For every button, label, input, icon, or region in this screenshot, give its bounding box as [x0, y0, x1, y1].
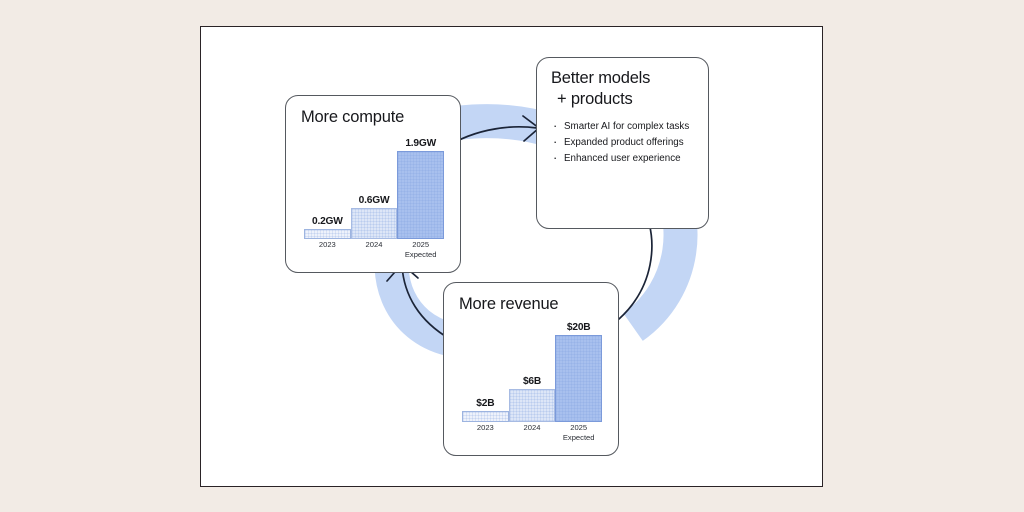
- bar-value-label: $20B: [567, 322, 591, 333]
- bar-column-2024: $6B: [509, 317, 556, 422]
- bar-value-label: 1.9GW: [405, 138, 436, 149]
- diagram-canvas: More compute 0.2GW 0.6GW 1.9GW: [0, 0, 1024, 512]
- bar-value-label: 0.2GW: [312, 216, 343, 227]
- list-item: Expanded product offerings: [551, 136, 701, 150]
- x-label-year: 2024: [366, 240, 383, 249]
- x-label-year: 2023: [477, 423, 494, 432]
- chart-more-revenue: $2B $6B $20B 2023: [456, 317, 608, 447]
- bar-column-2025: 1.9GW: [397, 134, 444, 239]
- x-label-2023: 2023: [304, 240, 351, 264]
- x-label-2024: 2024: [509, 423, 556, 447]
- x-label-sub: Expected: [555, 433, 602, 443]
- x-axis-labels-compute: 2023 2024 2025 Expected: [298, 240, 450, 264]
- x-label-sub: Expected: [397, 250, 444, 260]
- bar-2025: [555, 335, 602, 422]
- bar-2025: [397, 151, 444, 239]
- node-better-models-products[interactable]: Better models + products Smarter AI for …: [536, 57, 709, 229]
- bar-column-2025: $20B: [555, 317, 602, 422]
- x-label-2025: 2025 Expected: [397, 240, 444, 264]
- list-item: Smarter AI for complex tasks: [551, 120, 701, 134]
- title-line-2: + products: [551, 89, 650, 110]
- x-label-year: 2025: [570, 423, 587, 432]
- x-label-year: 2025: [412, 240, 429, 249]
- x-label-year: 2024: [524, 423, 541, 432]
- node-more-revenue[interactable]: More revenue $2B $6B $20B: [443, 282, 619, 456]
- node-title-more-compute: More compute: [301, 108, 404, 127]
- node-title-better-models: Better models + products: [551, 68, 650, 110]
- list-item: Enhanced user experience: [551, 152, 701, 166]
- x-label-2025: 2025 Expected: [555, 423, 602, 447]
- title-line-1: Better models: [551, 69, 650, 87]
- node-more-compute[interactable]: More compute 0.2GW 0.6GW 1.9GW: [285, 95, 461, 273]
- x-label-2023: 2023: [462, 423, 509, 447]
- bar-group-revenue: $2B $6B $20B: [456, 317, 608, 422]
- bar-2023: [462, 411, 509, 422]
- x-axis-labels-revenue: 2023 2024 2025 Expected: [456, 423, 608, 447]
- node-title-more-revenue: More revenue: [459, 295, 558, 314]
- bar-value-label: $6B: [523, 376, 541, 387]
- diagram-frame: More compute 0.2GW 0.6GW 1.9GW: [200, 26, 823, 487]
- bar-2023: [304, 229, 351, 239]
- bar-column-2024: 0.6GW: [351, 134, 398, 239]
- chart-more-compute: 0.2GW 0.6GW 1.9GW 2023: [298, 134, 450, 264]
- bar-2024: [509, 389, 556, 422]
- bar-value-label: 0.6GW: [359, 195, 390, 206]
- bar-column-2023: 0.2GW: [304, 134, 351, 239]
- bullet-list-better-models: Smarter AI for complex tasks Expanded pr…: [551, 120, 701, 168]
- bar-group-compute: 0.2GW 0.6GW 1.9GW: [298, 134, 450, 239]
- bar-2024: [351, 208, 398, 239]
- bar-value-label: $2B: [476, 398, 494, 409]
- x-label-2024: 2024: [351, 240, 398, 264]
- x-label-year: 2023: [319, 240, 336, 249]
- bar-column-2023: $2B: [462, 317, 509, 422]
